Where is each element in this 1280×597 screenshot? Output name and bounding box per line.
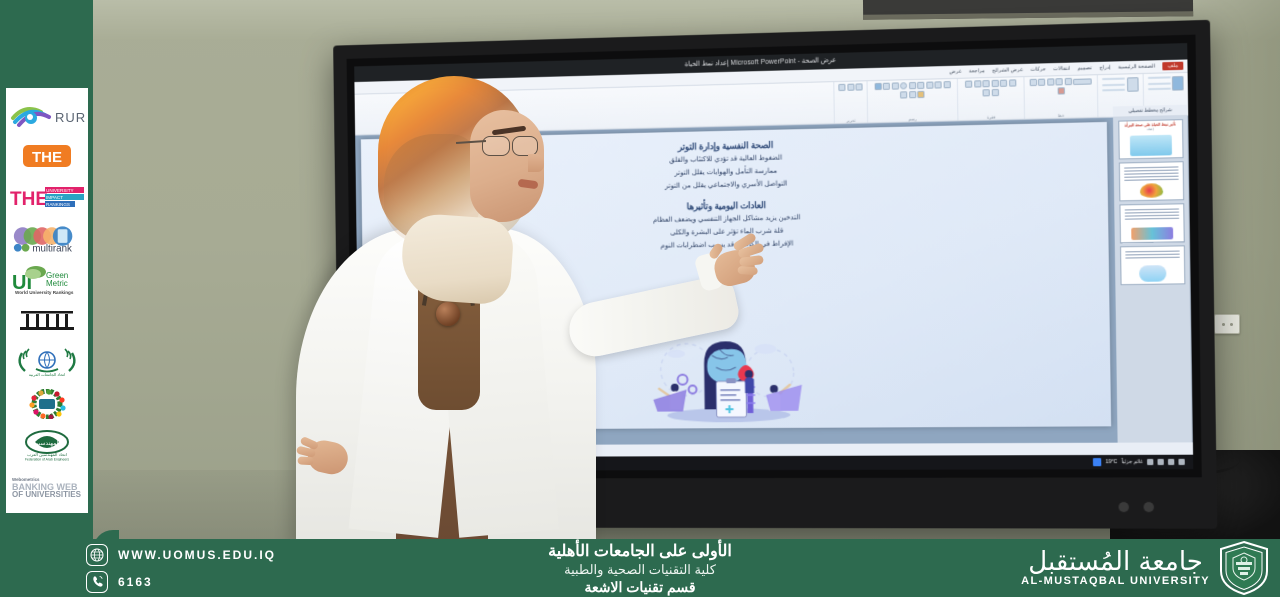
text-direction-icon[interactable] — [983, 89, 990, 96]
ribbon-group-label: تحرير — [846, 118, 855, 123]
thumbnail-text-lines — [1124, 166, 1179, 182]
ribbon-group-label: خط — [1058, 113, 1065, 118]
screenshot-root: عرض الصحة - Microsoft PowerPoint إعداد ن… — [0, 0, 1280, 597]
shape-outline-icon[interactable] — [917, 90, 924, 97]
format-painter-icon[interactable] — [1148, 88, 1171, 91]
volume-icon[interactable] — [1168, 459, 1174, 465]
shape-effects-icon[interactable] — [909, 91, 916, 98]
slide-thumbnail[interactable] — [1118, 161, 1183, 201]
new-slide-icon[interactable] — [1126, 77, 1138, 92]
footer-phone-text: 6163 — [118, 575, 153, 589]
thumbnail-image-exercise — [1131, 227, 1173, 240]
shape-line-icon[interactable] — [917, 82, 924, 89]
footer-website-text: WWW.UOMUS.EDU.IQ — [118, 548, 276, 562]
university-name-english: AL-MUSTAQBAL UNIVERSITY — [1021, 575, 1210, 587]
section-icon[interactable] — [1102, 89, 1125, 92]
weather-temperature: 19°C — [1106, 459, 1118, 465]
thumbnail-image-water-hands — [1129, 135, 1171, 156]
university-name-arabic: جامعة المُستقبل — [1028, 549, 1203, 575]
svg-text:Federation of Arab Engineers: Federation of Arab Engineers — [25, 458, 69, 462]
lens-left — [482, 136, 510, 156]
logo-multirank: multirank — [9, 218, 85, 259]
tab-design[interactable]: تصميم — [1077, 65, 1092, 72]
paste-icon[interactable] — [1172, 75, 1184, 90]
svg-text:UNIVERSITY: UNIVERSITY — [46, 188, 74, 193]
logo-federation-arab-engineers: المهندسين اتحاد المهندسين العرب Federati… — [9, 424, 85, 465]
italic-icon[interactable] — [1047, 78, 1054, 85]
align-center-icon[interactable] — [983, 80, 990, 87]
shape-star-icon[interactable] — [883, 83, 890, 90]
bold-icon[interactable] — [1056, 78, 1063, 85]
line-spacing-icon[interactable] — [965, 80, 972, 87]
tab-transitions[interactable]: انتقالات — [1053, 66, 1070, 73]
footer-phone-row[interactable]: 6163 — [86, 571, 360, 593]
classroom-photo: عرض الصحة - Microsoft PowerPoint إعداد ن… — [93, 0, 1280, 540]
footer-college: كلية التقنيات الصحية والطبية — [564, 562, 716, 578]
association-arab-universities-logo-icon: اتحاد الجامعات العربية — [12, 347, 82, 377]
svg-text:RANKINGS: RANKINGS — [46, 202, 70, 207]
layout-icon[interactable] — [1102, 78, 1125, 81]
the-impact-rankings-logo-icon: THE UNIVERSITY IMPACT RANKINGS — [9, 185, 85, 209]
finger — [739, 255, 764, 267]
svg-text:multirank: multirank — [32, 243, 72, 253]
network-icon[interactable] — [1157, 459, 1163, 465]
slide-thumbnail[interactable] — [1120, 245, 1185, 285]
logo-greenmetric: UI Green Metric World University Ranking… — [9, 259, 85, 300]
lens-right — [512, 136, 538, 156]
svg-text:المهندسين: المهندسين — [34, 440, 60, 447]
thumbnail-image-heart-fruits — [1139, 183, 1162, 198]
phone-icon — [86, 571, 108, 593]
thumbnail-image-brain — [1139, 265, 1166, 282]
numbering-icon[interactable] — [1000, 80, 1007, 87]
rur-logo-icon: RUR — [9, 102, 85, 128]
wall-socket — [1214, 314, 1240, 334]
cut-icon[interactable] — [1147, 76, 1170, 79]
find-icon[interactable] — [855, 83, 862, 90]
globe-www-icon — [86, 544, 108, 566]
underline-icon[interactable] — [1038, 79, 1045, 86]
ribbon-group-label: رسم — [909, 116, 917, 121]
svg-text:OF UNIVERSITIES: OF UNIVERSITIES — [12, 490, 82, 498]
tab-home[interactable]: الصفحة الرئيسية — [1118, 63, 1155, 70]
font-size-box[interactable] — [1064, 78, 1071, 85]
logo-webometrics: Webometrics BANKING WEB OF UNIVERSITIES — [9, 466, 85, 507]
board-button[interactable] — [1143, 502, 1154, 512]
svg-text:Metric: Metric — [46, 279, 68, 288]
columns-icon[interactable] — [991, 88, 998, 95]
font-name-box[interactable] — [1073, 78, 1092, 85]
wall-picture-mat — [863, 0, 1193, 20]
board-button[interactable] — [1118, 502, 1129, 512]
footer-department: قسم تقنيات الاشعة — [585, 579, 696, 596]
select-icon[interactable] — [838, 84, 845, 91]
action-center-icon[interactable] — [1178, 459, 1184, 465]
tab-view[interactable]: عرض — [949, 69, 962, 75]
chevron-up-icon[interactable] — [1147, 459, 1153, 465]
copy-icon[interactable] — [1147, 82, 1170, 85]
shape-circle-icon[interactable] — [900, 82, 907, 89]
presenter — [268, 58, 688, 540]
branding-sidebar: RUR THE THE UNIVERSITY IMPACT RANKINGS — [0, 0, 93, 597]
tab-animations[interactable]: حركات — [1030, 66, 1046, 73]
shape-oval-icon[interactable] — [926, 82, 933, 89]
logo-the: THE — [9, 135, 85, 176]
qs-rankings-logo-icon — [17, 308, 77, 334]
align-right-icon[interactable] — [991, 80, 998, 87]
reset-icon[interactable] — [1102, 83, 1125, 86]
shape-arrow-icon[interactable] — [909, 82, 916, 89]
svg-text:World University Rankings: World University Rankings — [15, 290, 74, 295]
federation-arab-engineers-logo-icon: المهندسين اتحاد المهندسين العرب Federati… — [11, 429, 83, 461]
footer-banner: WWW.UOMUS.EDU.IQ 6163 الأولى على الجامعا… — [0, 539, 1280, 597]
footer-contact-block: WWW.UOMUS.EDU.IQ 6163 — [0, 544, 360, 593]
tab-slideshow[interactable]: عرض الشرائح — [992, 67, 1023, 74]
align-left-icon[interactable] — [974, 80, 981, 87]
slide-thumbnail[interactable] — [1119, 203, 1184, 243]
ribbon-group-label: فقرة — [987, 114, 996, 119]
ui-greenmetric-logo-icon: UI Green Metric World University Ranking… — [9, 265, 85, 295]
logo-rur: RUR — [9, 94, 85, 135]
svg-text:اتحاد الجامعات العربية: اتحاد الجامعات العربية — [29, 372, 65, 377]
university-shield-logo — [1218, 540, 1270, 596]
logo-arab-universities: اتحاد الجامعات العربية — [9, 342, 85, 383]
svg-text:THE: THE — [32, 149, 62, 166]
shape-fill-icon[interactable] — [874, 83, 881, 90]
thumbnail-text-lines — [1124, 208, 1179, 221]
tab-review[interactable]: مراجعة — [969, 68, 985, 75]
slide-thumbnail[interactable]: تأثير نمط الحياة على صحة المرأة إعداد — [1118, 119, 1183, 159]
ribbon-group-drawing: رسم — [867, 79, 958, 123]
head — [378, 76, 538, 251]
ribbon-group-paragraph: فقرة — [957, 77, 1024, 120]
sdg-wheel-logo-icon — [14, 389, 80, 419]
logo-sdg — [9, 383, 85, 424]
footer-headline: الأولى على الجامعات الأهلية — [548, 541, 732, 561]
logo-the-impact: THE UNIVERSITY IMPACT RANKINGS — [9, 177, 85, 218]
weather-condition: غائم جزئياً — [1121, 459, 1142, 465]
pendant — [436, 302, 460, 326]
nose — [528, 154, 544, 172]
svg-text:IMPACT: IMPACT — [46, 195, 63, 200]
svg-text:THE: THE — [10, 189, 48, 209]
finger — [737, 266, 758, 275]
font-color-icon[interactable] — [1057, 87, 1064, 94]
shape-triangle-icon[interactable] — [891, 82, 898, 89]
tab-insert[interactable]: إدراج — [1099, 65, 1111, 71]
footer-slogan-block: الأولى على الجامعات الأهلية كلية التقنيا… — [360, 541, 920, 596]
shape-rect-icon[interactable] — [943, 81, 950, 88]
shadow-icon[interactable] — [1029, 79, 1036, 86]
webometrics-logo-icon: Webometrics BANKING WEB OF UNIVERSITIES — [10, 474, 84, 498]
weather-icon[interactable] — [1093, 458, 1101, 466]
tab-file[interactable]: ملف — [1162, 62, 1183, 71]
finger — [298, 457, 314, 466]
svg-text:RUR: RUR — [55, 110, 85, 125]
ranking-logos-card: RUR THE THE UNIVERSITY IMPACT RANKINGS — [6, 88, 88, 513]
ribbon-group-font: خط — [1023, 75, 1097, 119]
thumbnails-pane-tabs[interactable]: شرائح مخطط تفصيلي — [1113, 105, 1187, 117]
arrange-icon[interactable] — [900, 91, 907, 98]
footer-website-row[interactable]: WWW.UOMUS.EDU.IQ — [86, 544, 360, 566]
slide-thumbnails-pane[interactable]: شرائح مخطط تفصيلي تأثير نمط الحياة على ص… — [1113, 116, 1193, 443]
thumbnail-text-lines — [1125, 251, 1179, 261]
ribbon-group-editing: تحرير — [833, 81, 867, 123]
svg-text:اتحاد المهندسين العرب: اتحاد المهندسين العرب — [27, 452, 67, 457]
logo-qs — [9, 300, 85, 341]
shape-rounded-icon[interactable] — [934, 81, 941, 88]
bullets-icon[interactable] — [1009, 79, 1016, 86]
replace-icon[interactable] — [847, 84, 854, 91]
system-tray[interactable]: 19°C غائم جزئياً — [1093, 458, 1189, 466]
the-logo-icon: THE — [21, 143, 73, 169]
footer-university-block: جامعة المُستقبل AL-MUSTAQBAL UNIVERSITY — [920, 540, 1280, 596]
u-multirank-logo-icon: multirank — [9, 224, 85, 254]
